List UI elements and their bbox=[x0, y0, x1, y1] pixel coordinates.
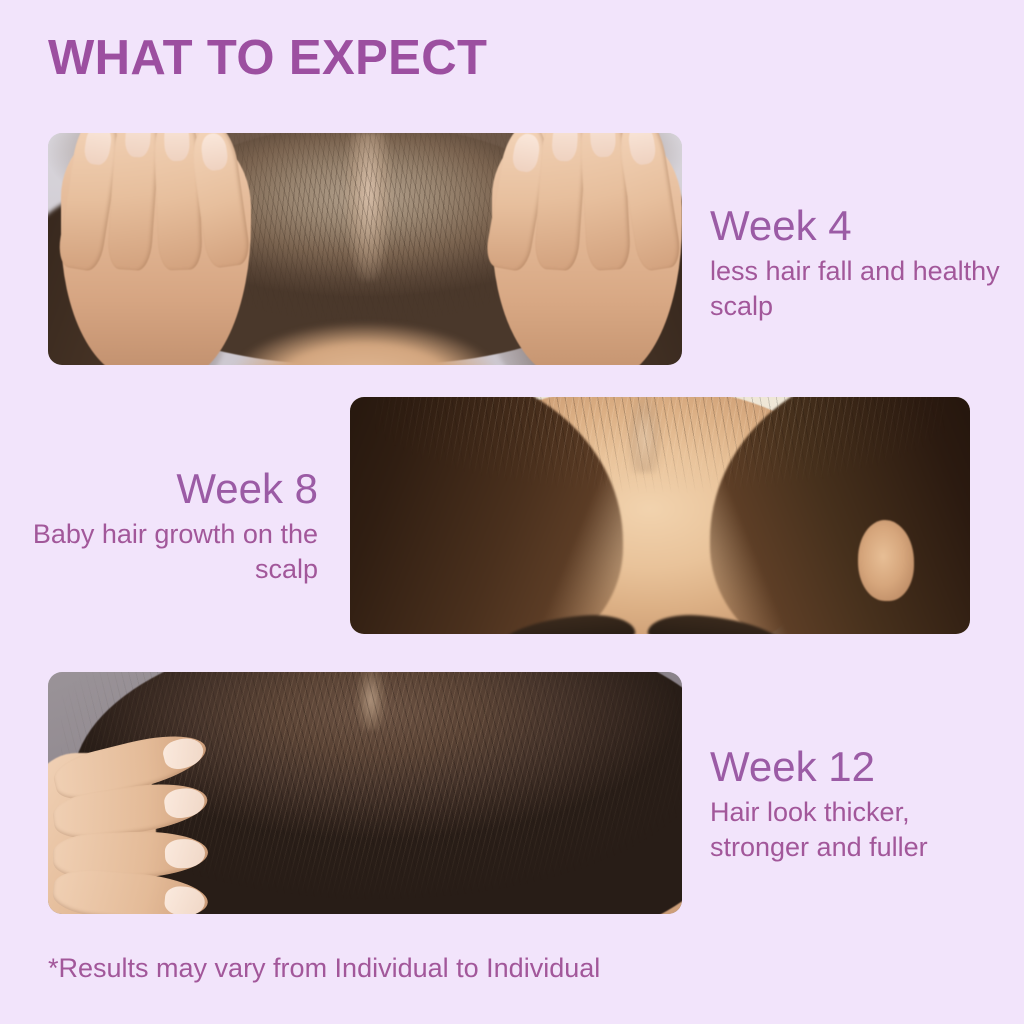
left-hand bbox=[61, 133, 251, 365]
week-8-description: Baby hair growth on the scalp bbox=[18, 517, 318, 586]
disclaimer-text: *Results may vary from Individual to Ind… bbox=[48, 953, 600, 984]
week-8-heading: Week 8 bbox=[18, 466, 318, 511]
week-4-caption: Week 4 less hair fall and healthy scalp bbox=[710, 203, 1010, 323]
hand-in-hair bbox=[48, 711, 238, 914]
week-4-heading: Week 4 bbox=[710, 203, 1010, 248]
week-4-description: less hair fall and healthy scalp bbox=[710, 254, 1010, 323]
week-12-photo bbox=[48, 672, 682, 914]
week-12-description: Hair look thicker, stronger and fuller bbox=[710, 795, 1010, 864]
week-12-caption: Week 12 Hair look thicker, stronger and … bbox=[710, 744, 1010, 864]
week-8-caption: Week 8 Baby hair growth on the scalp bbox=[18, 466, 318, 586]
week-12-photo-image bbox=[48, 672, 682, 914]
what-to-expect-infographic: WHAT TO EXPECT bbox=[0, 0, 1024, 1024]
week-8-photo-image bbox=[350, 397, 970, 634]
page-title: WHAT TO EXPECT bbox=[48, 31, 487, 86]
week-8-photo bbox=[350, 397, 970, 634]
week-4-photo bbox=[48, 133, 682, 365]
week-4-photo-image bbox=[48, 133, 682, 365]
right-hand bbox=[492, 133, 682, 365]
week-12-heading: Week 12 bbox=[710, 744, 1010, 789]
